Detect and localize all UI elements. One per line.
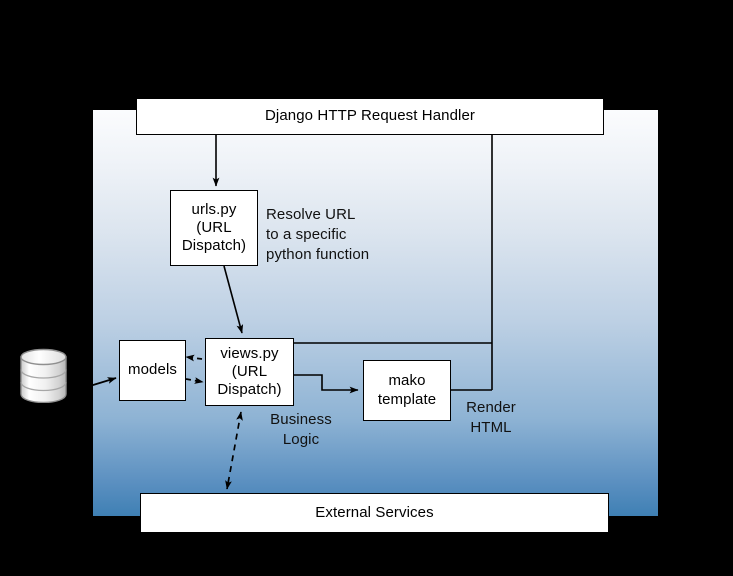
node-label: Django HTTP Request Handler [265, 107, 475, 125]
node-urls-py[interactable]: urls.py (URL Dispatch) [170, 190, 258, 266]
node-mako-template[interactable]: mako template [363, 360, 451, 421]
node-label: models [128, 361, 177, 379]
node-external-services[interactable]: External Services [140, 493, 609, 533]
node-models[interactable]: models [119, 340, 186, 401]
annotation-render-html: Render HTML [459, 398, 523, 438]
node-label: urls.py (URL Dispatch) [182, 201, 246, 256]
annotation-resolve-url: Resolve URL to a specific python functio… [266, 205, 369, 265]
node-views-py[interactable]: views.py (URL Dispatch) [205, 338, 294, 406]
annotation-business-logic: Business Logic [266, 410, 336, 450]
node-label: mako template [378, 372, 436, 409]
node-django-http-request-handler[interactable]: Django HTTP Request Handler [136, 98, 604, 135]
gradient-backdrop-panel [93, 110, 658, 516]
diagram-canvas: Django HTTP Request Handler urls.py (URL… [0, 0, 733, 576]
node-label: External Services [315, 504, 433, 522]
database-cylinder-icon [19, 348, 68, 403]
node-label: views.py (URL Dispatch) [217, 345, 281, 400]
